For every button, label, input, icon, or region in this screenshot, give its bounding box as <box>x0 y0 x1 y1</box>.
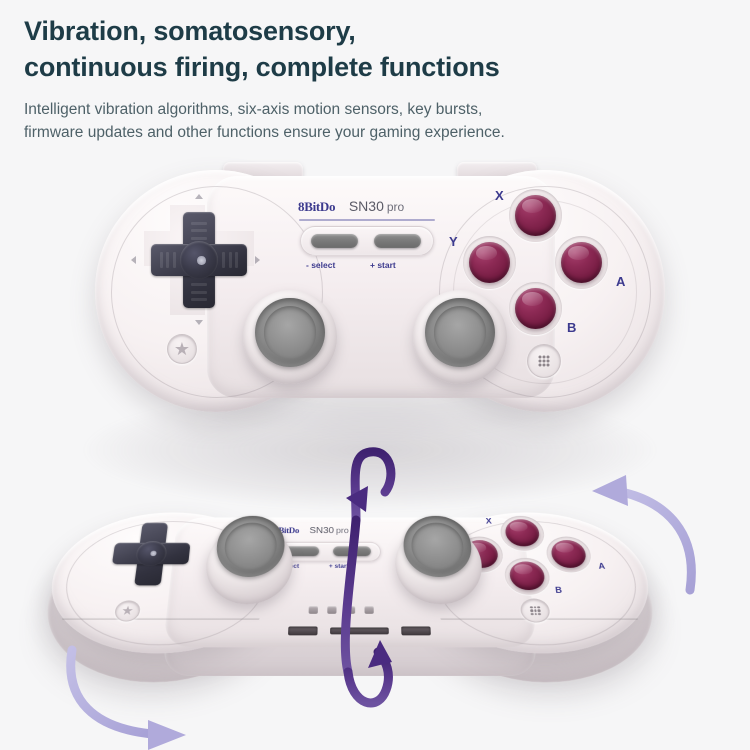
right-stick-cap <box>425 298 495 368</box>
dpad-cross <box>151 212 247 308</box>
led-indicator <box>327 606 336 614</box>
bottom-brand-model: SN30 <box>309 526 334 536</box>
select-start-group <box>300 226 434 256</box>
star-icon: ★ <box>168 340 196 358</box>
dpad-marker-up-icon <box>195 194 203 199</box>
select-button[interactable] <box>311 234 358 248</box>
bottom-dot-grid-icon <box>530 606 541 615</box>
product-stage: ★ 8BitDo SN30pro - select + start X Y <box>0 160 750 750</box>
capture-button[interactable] <box>527 344 561 378</box>
home-button[interactable]: ★ <box>167 334 197 364</box>
led-indicator-group <box>309 606 374 614</box>
brand-underline <box>299 219 435 221</box>
usb-port-left-slot <box>288 626 318 635</box>
led-indicator <box>309 606 318 614</box>
bottom-start-label: + start <box>329 563 349 569</box>
y-button-label: Y <box>449 234 458 249</box>
product-feature-page: Vibration, somatosensory, continuous fir… <box>0 0 750 750</box>
controller-top: ★ 8BitDo SN30pro - select + start X Y <box>95 162 665 412</box>
left-stick-cap <box>255 298 325 368</box>
bottom-b-button-label: B <box>555 585 563 594</box>
a-button-label: A <box>616 274 626 289</box>
bottom-x-button-label: X <box>485 517 492 526</box>
start-label: + start <box>370 260 396 270</box>
usb-port-right-slot <box>401 626 431 635</box>
headline-line-2: continuous firing, complete functions <box>24 50 726 86</box>
bottom-star-icon: ★ <box>115 604 139 616</box>
bottom-left-seam <box>62 618 260 619</box>
page-title: Vibration, somatosensory, continuous fir… <box>24 14 726 86</box>
a-button[interactable] <box>561 242 602 283</box>
x-button-label: X <box>495 188 504 203</box>
select-label: - select <box>306 260 335 270</box>
dpad-hub <box>180 241 218 279</box>
dpad-marker-down-icon <box>195 320 203 325</box>
dot-grid-icon <box>539 356 550 367</box>
left-analog-stick[interactable] <box>243 290 337 384</box>
bottom-start-button[interactable] <box>333 546 371 556</box>
led-indicator <box>346 606 355 614</box>
brand-label: 8BitDo SN30pro <box>298 198 404 215</box>
bottom-controller-shadow <box>85 390 655 510</box>
y-button[interactable] <box>469 242 510 283</box>
dpad-icon[interactable] <box>151 212 247 308</box>
usb-c-port <box>330 627 389 634</box>
bottom-left-analog-stick[interactable] <box>203 526 294 604</box>
b-button[interactable] <box>515 288 556 329</box>
b-button-label: B <box>567 320 577 335</box>
bottom-brand-model-suffix: pro <box>336 526 349 535</box>
bottom-dpad-cross <box>109 523 193 586</box>
headline-line-1: Vibration, somatosensory, <box>24 16 356 46</box>
bottom-a-button-label: A <box>598 562 606 571</box>
subcopy-line-1: Intelligent vibration algorithms, six-ax… <box>24 101 482 118</box>
dpad-marker-left-icon <box>131 256 136 264</box>
bottom-right-analog-stick[interactable] <box>394 526 485 604</box>
right-analog-stick[interactable] <box>413 290 507 384</box>
led-indicator <box>364 606 373 614</box>
brand-model: SN30 <box>349 198 384 214</box>
start-button[interactable] <box>374 234 421 248</box>
x-button[interactable] <box>515 195 556 236</box>
controller-bottom: ★ 8BitDo SN30pro - select + start X Y <box>30 507 669 686</box>
dpad-marker-right-icon <box>255 256 260 264</box>
bottom-dpad-icon[interactable] <box>109 523 193 586</box>
brand-model-suffix: pro <box>387 200 404 214</box>
text-block: Vibration, somatosensory, continuous fir… <box>0 0 750 145</box>
page-subcopy: Intelligent vibration algorithms, six-ax… <box>24 98 726 145</box>
brand-8bitdo: 8BitDo <box>298 199 335 214</box>
subcopy-line-2: firmware updates and other functions ens… <box>24 121 726 145</box>
